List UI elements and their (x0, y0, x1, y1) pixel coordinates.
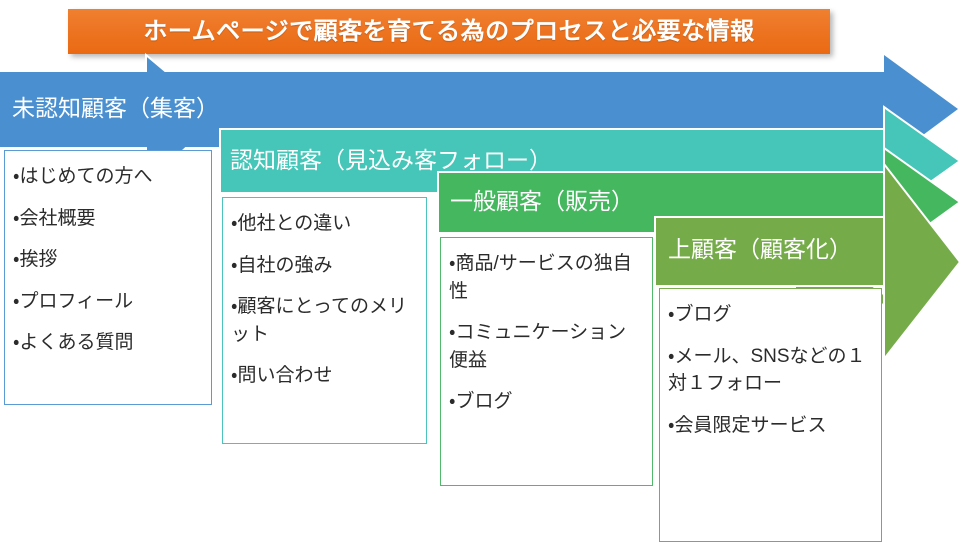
list-item: ・メール、SNSなどの１対１フォロー (668, 343, 873, 398)
list-item: ・商品/サービスの独自性 (449, 250, 644, 305)
list-item: ・会社概要 (13, 205, 203, 233)
list-item: ・他社との違い (231, 210, 418, 238)
list-item: ・自社の強み (231, 252, 418, 280)
stage-list-1: ・はじめての方へ ・会社概要 ・挨拶 ・プロフィール ・よくある質問 (13, 163, 203, 357)
list-item: ・はじめての方へ (13, 163, 203, 191)
stage-label-4: 上顧客（顧客化） (668, 238, 852, 261)
stage-label-2: 認知顧客（見込み客フォロー） (230, 149, 552, 172)
stage-panel-4: ・ブログ ・メール、SNSなどの１対１フォロー ・会員限定サービス (659, 288, 882, 542)
list-item: ・ブログ (449, 388, 644, 416)
list-item: ・会員限定サービス (668, 412, 873, 440)
stage-panel-2: ・他社との違い ・自社の強み ・顧客にとってのメリット ・問い合わせ (222, 197, 427, 444)
stage-list-4: ・ブログ ・メール、SNSなどの１対１フォロー ・会員限定サービス (668, 301, 873, 439)
list-item: ・ブログ (668, 301, 873, 329)
list-item: ・コミュニケーション便益 (449, 319, 644, 374)
stage-list-3: ・商品/サービスの独自性 ・コミュニケーション便益 ・ブログ (449, 250, 644, 416)
list-item: ・顧客にとってのメリット (231, 293, 418, 348)
stage-panel-1: ・はじめての方へ ・会社概要 ・挨拶 ・プロフィール ・よくある質問 (4, 150, 212, 405)
stage-panel-3: ・商品/サービスの独自性 ・コミュニケーション便益 ・ブログ (440, 237, 653, 486)
list-item: ・問い合わせ (231, 362, 418, 390)
list-item: ・よくある質問 (13, 329, 203, 357)
list-item: ・挨拶 (13, 246, 203, 274)
page-title-text: ホームページで顧客を育てる為のプロセスと必要な情報 (143, 20, 754, 44)
stage-list-2: ・他社との違い ・自社の強み ・顧客にとってのメリット ・問い合わせ (231, 210, 418, 390)
stage-label-1: 未認知顧客（集客） (12, 97, 219, 120)
slide-canvas: ホームページで顧客を育てる為のプロセスと必要な情報 (0, 0, 960, 549)
page-title: ホームページで顧客を育てる為のプロセスと必要な情報 (68, 9, 830, 54)
stage-label-3: 一般顧客（販売） (450, 190, 634, 213)
list-item: ・プロフィール (13, 288, 203, 316)
